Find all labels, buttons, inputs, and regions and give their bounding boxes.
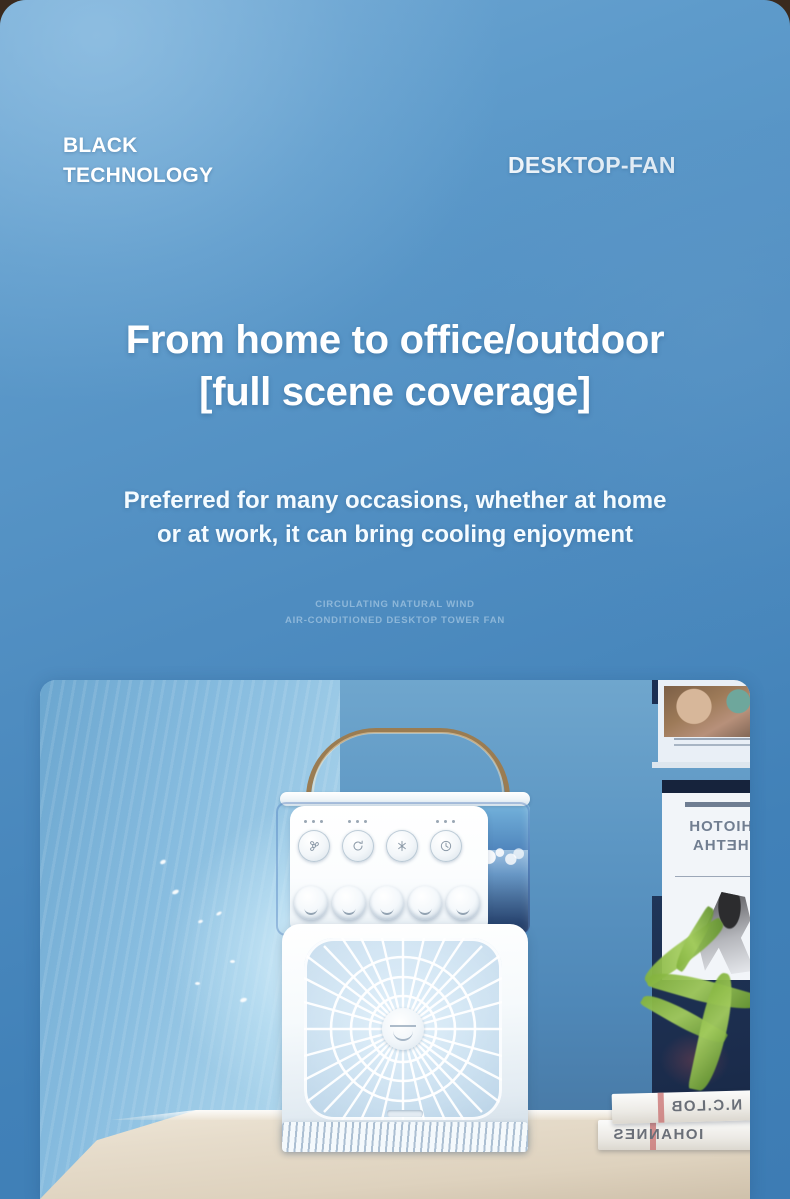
product-marketing-page: BLACK TECHNOLOGY DESKTOP-FAN From home t… (0, 0, 790, 1199)
mist-spray-icon[interactable] (386, 830, 418, 862)
indicator-dots (436, 820, 455, 823)
button-speed[interactable] (332, 886, 366, 920)
poster-title: RHIOTOH HHETHA (675, 818, 750, 856)
button-power[interactable] (294, 886, 328, 920)
desk-book-lower-text: IOHANNES (612, 1126, 703, 1143)
spray-glyph (394, 838, 410, 854)
header-eyebrow-row: BLACK TECHNOLOGY (0, 131, 790, 201)
desk-book-upper: N.C.LOB (612, 1090, 750, 1124)
hero-subtitle: Preferred for many occasions, whether at… (0, 484, 790, 551)
mist-particle (230, 960, 235, 963)
button-swing[interactable] (408, 886, 442, 920)
mist-particle (195, 982, 200, 985)
frame-artwork (664, 686, 750, 737)
top-lid[interactable] (280, 792, 530, 806)
indicator-dots (348, 820, 367, 823)
fan-body (282, 924, 528, 1148)
button-timer[interactable] (446, 886, 480, 920)
swing-arrow-glyph (350, 838, 366, 854)
button-mist[interactable] (370, 886, 404, 920)
air-cooler-fan (268, 728, 538, 1148)
poster-top-band (662, 780, 750, 793)
desk-book-lower: IOHANNES (598, 1120, 750, 1150)
control-panel[interactable] (290, 806, 488, 936)
eyebrow-black-technology: BLACK TECHNOLOGY (63, 131, 213, 192)
clock-glyph (438, 838, 454, 854)
fan-glyph (306, 838, 322, 854)
hero-headline: From home to office/outdoor [full scene … (0, 314, 790, 418)
oscillate-icon[interactable] (342, 830, 374, 862)
timer-icon[interactable] (430, 830, 462, 862)
wall-frame-art (658, 680, 750, 762)
fan-hub (382, 1008, 424, 1050)
poster-kicker-line (685, 802, 750, 807)
frame-caption-lines (674, 738, 750, 752)
indicator-dots (304, 820, 323, 823)
ghost-caption: CIRCULATING NATURAL WIND AIR-CONDITIONED… (0, 597, 790, 628)
book-band (658, 1093, 665, 1123)
wall-shelf-upper (652, 762, 750, 768)
carry-handle-highlight (312, 732, 504, 794)
body-latch (387, 1110, 423, 1117)
fan-speed-icon[interactable] (298, 830, 330, 862)
product-photo: RHIOTOH HHETHA IOHANNES (40, 680, 750, 1199)
poster-rule (675, 876, 750, 877)
fan-grille (304, 938, 502, 1120)
base-vent (282, 1122, 528, 1152)
desk-book-upper-text: N.C.LOB (670, 1097, 743, 1116)
